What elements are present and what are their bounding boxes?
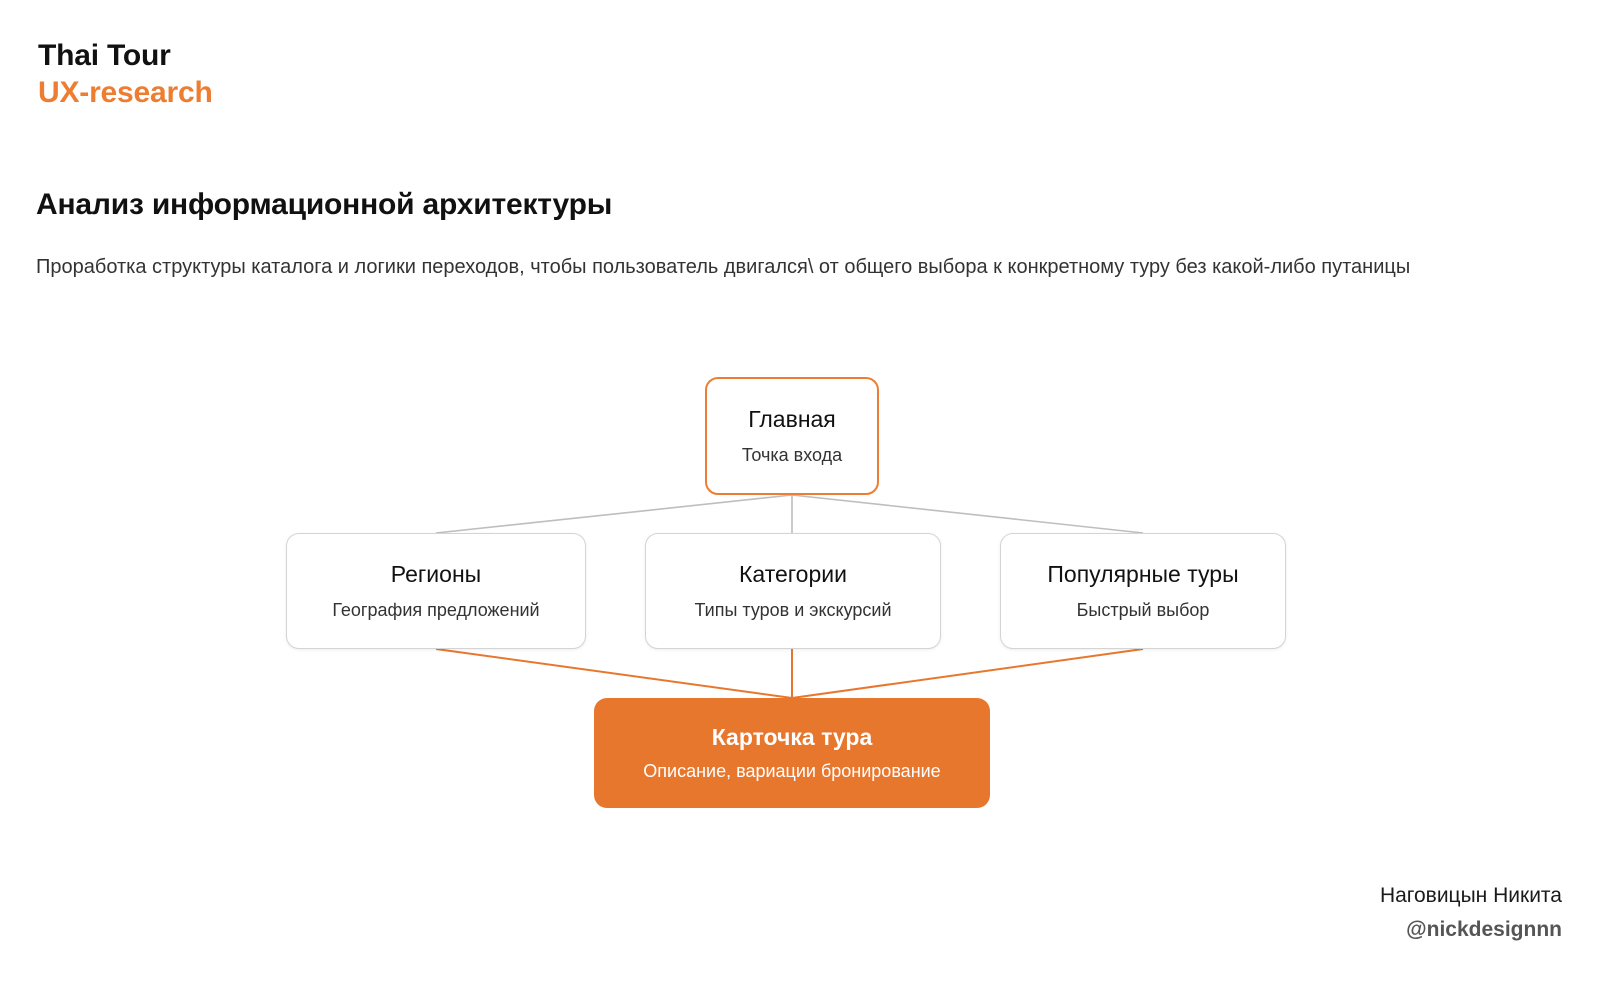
author-credit: Наговицын Никита @nickdesignnn (1380, 881, 1562, 945)
node-categories[interactable]: Категории Типы туров и экскурсий (645, 533, 941, 649)
connector-regions-to-card (436, 649, 792, 698)
connector-popular-to-card (792, 649, 1143, 698)
slide-canvas: Thai Tour UX-research Анализ информацион… (0, 0, 1600, 983)
node-popular-tours[interactable]: Популярные туры Быстрый выбор (1000, 533, 1286, 649)
author-handle: @nickdesignnn (1380, 915, 1562, 945)
brand-title: Thai Tour (38, 38, 213, 73)
brand-block: Thai Tour UX-research (38, 38, 213, 111)
node-tour-card-subtitle: Описание, вариации бронирование (643, 761, 940, 783)
node-home-title: Главная (748, 406, 836, 434)
node-categories-title: Категории (739, 561, 847, 589)
information-architecture-diagram: Главная Точка входа Регионы География пр… (0, 350, 1600, 830)
node-home[interactable]: Главная Точка входа (705, 377, 879, 495)
page-description: Проработка структуры каталога и логики п… (36, 252, 1476, 283)
node-tour-card[interactable]: Карточка тура Описание, вариации брониро… (594, 698, 990, 808)
brand-subtitle: UX-research (38, 75, 213, 110)
node-popular-tours-subtitle: Быстрый выбор (1077, 600, 1210, 622)
connector-root-to-regions (436, 495, 792, 533)
author-name: Наговицын Никита (1380, 881, 1562, 911)
node-regions[interactable]: Регионы География предложений (286, 533, 586, 649)
node-regions-subtitle: География предложений (332, 600, 539, 622)
node-tour-card-title: Карточка тура (712, 724, 873, 752)
page-title: Анализ информационной архитектуры (36, 188, 612, 222)
node-regions-title: Регионы (391, 561, 481, 589)
node-categories-subtitle: Типы туров и экскурсий (694, 600, 891, 622)
node-popular-tours-title: Популярные туры (1047, 561, 1238, 589)
connector-root-to-popular (792, 495, 1143, 533)
node-home-subtitle: Точка входа (742, 445, 842, 467)
